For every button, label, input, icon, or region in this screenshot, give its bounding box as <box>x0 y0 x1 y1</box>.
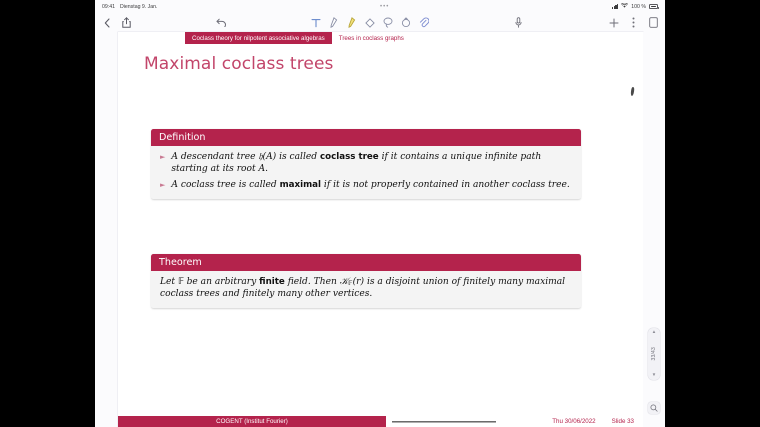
theorem-text: Let 𝔽 be an arbitrary finite field. Then… <box>160 277 565 300</box>
footer-progress-bar <box>386 416 552 427</box>
slide-content: Coclass theory for nilpotent associative… <box>118 32 643 427</box>
status-center-dots: ••• <box>380 4 389 10</box>
attachment-icon[interactable] <box>419 17 430 28</box>
status-bar-left: 09:41 Dienstag 9. Jan. <box>102 4 157 10</box>
toolbar-undo-group <box>132 17 311 28</box>
wifi-icon <box>621 3 628 10</box>
definition-block: Definition ► A descendant tree 𝔥(A) is c… <box>151 129 581 199</box>
ipad-app-viewport: 09:41 Dienstag 9. Jan. ••• 100 % <box>95 0 665 427</box>
footer-right: Thu 30/06/2022 Slide 33 <box>552 418 643 425</box>
battery-icon <box>649 4 658 9</box>
definition-bullet-2: ► A coclass tree is called maximal if it… <box>160 179 572 192</box>
status-date: Dienstag 9. Jan. <box>120 4 158 10</box>
bullet-triangle-icon: ► <box>160 179 165 192</box>
eraser-tool-icon[interactable] <box>365 17 376 28</box>
page-indicator-stepper[interactable]: ▲ 33/43 ▼ <box>648 328 660 380</box>
definition-bullet-1: ► A descendant tree 𝔥(A) is called cocla… <box>160 151 572 177</box>
theorem-block: Theorem Let 𝔽 be an arbitrary finite fie… <box>151 254 581 308</box>
nav-spacer <box>118 32 185 44</box>
slide-title: Maximal coclass trees <box>144 54 333 74</box>
toolbar-right-group <box>608 17 659 28</box>
zoom-button[interactable] <box>648 402 660 414</box>
magnifier-icon <box>650 404 658 412</box>
status-bar: 09:41 Dienstag 9. Jan. ••• 100 % <box>95 0 665 13</box>
screen-root: 09:41 Dienstag 9. Jan. ••• 100 % <box>0 0 760 427</box>
slide-footer: COGENT (Institut Fourier) Thu 30/06/2022… <box>118 416 643 427</box>
toolbar-tools-group <box>311 17 430 28</box>
add-icon[interactable] <box>608 17 619 28</box>
bullet-triangle-icon: ► <box>160 151 165 177</box>
definition-block-header: Definition <box>151 129 581 146</box>
definition-bullet-1-text: A descendant tree 𝔥(A) is called coclass… <box>171 151 572 177</box>
footer-date: Thu 30/06/2022 <box>552 418 595 425</box>
microphone-icon[interactable] <box>513 17 524 28</box>
footer-slide-number: Slide 33 <box>612 418 634 425</box>
ruler-tool-icon[interactable] <box>401 17 412 28</box>
theorem-block-body: Let 𝔽 be an arbitrary finite field. Then… <box>151 271 581 309</box>
undo-icon[interactable] <box>216 17 227 28</box>
toolbar-left-group <box>101 17 132 28</box>
pen-tool-icon[interactable] <box>329 17 340 28</box>
app-toolbar <box>95 13 665 32</box>
status-bar-center: ••• <box>157 4 611 10</box>
theorem-block-header: Theorem <box>151 254 581 271</box>
nav-tab-section-active[interactable]: Coclass theory for nilpotent associative… <box>185 32 332 44</box>
page-thumbnails-icon[interactable] <box>648 17 659 28</box>
definition-bullet-2-text: A coclass tree is called maximal if it i… <box>171 179 572 192</box>
share-icon[interactable] <box>121 17 132 28</box>
text-tool-icon[interactable] <box>311 17 322 28</box>
chevron-down-icon[interactable]: ▼ <box>652 373 656 378</box>
slide-page: Coclass theory for nilpotent associative… <box>118 32 643 427</box>
status-time: 09:41 <box>102 4 115 10</box>
chevron-up-icon[interactable]: ▲ <box>652 330 656 335</box>
cellular-signal-icon <box>612 4 618 9</box>
nav-tab-section-inactive[interactable]: Trees in coclass graphs <box>332 32 411 44</box>
right-rail: ▲ 33/43 ▼ <box>643 32 665 427</box>
footer-author: COGENT (Institut Fourier) <box>118 416 386 427</box>
more-options-icon[interactable] <box>628 17 639 28</box>
back-chevron-icon[interactable] <box>101 17 112 28</box>
battery-percent-label: 100 % <box>631 4 646 10</box>
page-indicator-label: 33/43 <box>651 347 657 361</box>
pen-annotation-mark <box>630 87 634 96</box>
beamer-nav-bar: Coclass theory for nilpotent associative… <box>118 32 643 44</box>
status-bar-right: 100 % <box>612 3 658 10</box>
definition-block-body: ► A descendant tree 𝔥(A) is called cocla… <box>151 146 581 200</box>
highlighter-tool-icon[interactable] <box>347 17 358 28</box>
toolbar-mic-group <box>430 17 609 28</box>
lasso-tool-icon[interactable] <box>383 17 394 28</box>
